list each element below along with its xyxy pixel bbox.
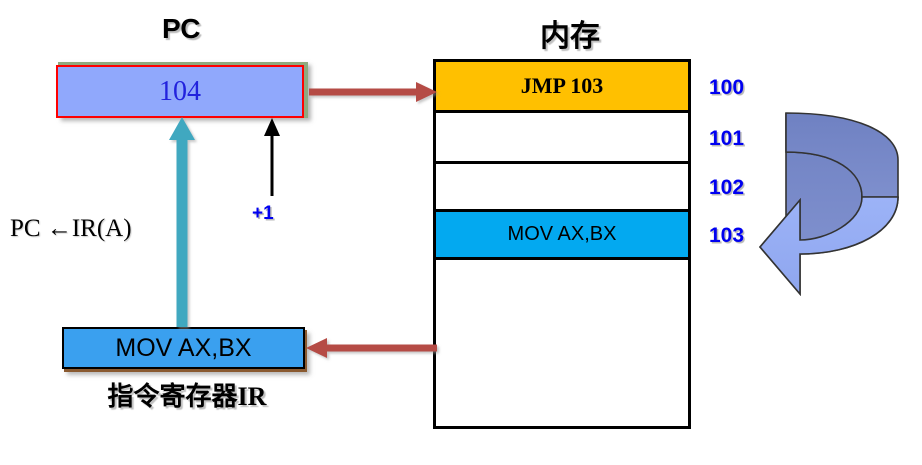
ir-register-box[interactable]: MOV AX,BX: [62, 327, 305, 369]
memory-row[interactable]: [436, 260, 688, 426]
memory-address-label: 103: [709, 223, 789, 249]
arrow-memory-to-ir: [306, 338, 437, 358]
ir-value: MOV AX,BX: [115, 334, 251, 363]
pc-value: 104: [159, 76, 201, 108]
memory-row[interactable]: JMP 103: [436, 62, 688, 113]
memory-row[interactable]: MOV AX,BX: [436, 212, 688, 260]
instruction-cycle-diagram: PC 104 内存 JMP 103MOV AX,BX MOV AX,BX 指令寄…: [0, 0, 922, 465]
memory-address-label: 102: [709, 175, 789, 201]
increment-label: +1: [252, 200, 312, 228]
memory-row[interactable]: [436, 113, 688, 164]
memory-row[interactable]: [436, 164, 688, 212]
pc-register-box[interactable]: 104: [56, 65, 304, 118]
pc-title: PC: [126, 12, 236, 46]
memory-table: JMP 103MOV AX,BX: [433, 59, 691, 429]
memory-cell-text: MOV AX,BX: [508, 223, 617, 246]
memory-address-label: 101: [709, 126, 789, 152]
arrow-pc-to-memory: [309, 82, 437, 102]
ir-label: 指令寄存器IR: [62, 376, 312, 412]
pc-assignment-formula: PC ←IR(A): [10, 212, 210, 246]
memory-title: 内存: [515, 13, 625, 53]
memory-cell-text: JMP 103: [521, 73, 604, 99]
memory-address-label: 100: [709, 75, 789, 101]
arrow-increment-to-pc: [264, 118, 280, 196]
